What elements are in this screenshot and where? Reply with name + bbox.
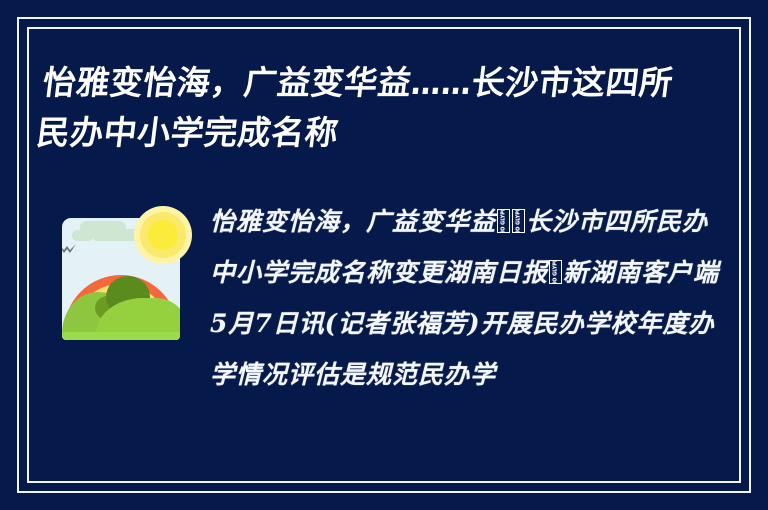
scenery-rainbow-emoji xyxy=(62,210,182,350)
sun-icon xyxy=(140,212,186,258)
article-card: 怡雅变怡海，广益变华益……长沙市这四所民办中小学完成名称 xyxy=(0,0,768,510)
missing-glyph-box xyxy=(497,209,510,233)
article-text-run: 怡雅变怡海，广益变华益 xyxy=(210,207,496,236)
ground-strip xyxy=(62,332,180,340)
missing-glyph-box xyxy=(512,209,525,233)
article-body-row: 怡雅变怡海，广益变华益长沙市四所民办中小学完成名称变更湖南日报新湖南客户端5月7… xyxy=(46,196,722,400)
cloud-icon xyxy=(72,230,94,241)
sun-core xyxy=(148,220,178,250)
article-body-text: 怡雅变怡海，广益变华益长沙市四所民办中小学完成名称变更湖南日报新湖南客户端5月7… xyxy=(210,196,722,400)
page-title: 怡雅变怡海，广益变华益……长沙市这四所民办中小学完成名称 xyxy=(34,58,706,158)
missing-glyph-box xyxy=(549,260,562,284)
bird-icon xyxy=(62,244,76,254)
article-thumbnail xyxy=(46,202,198,362)
